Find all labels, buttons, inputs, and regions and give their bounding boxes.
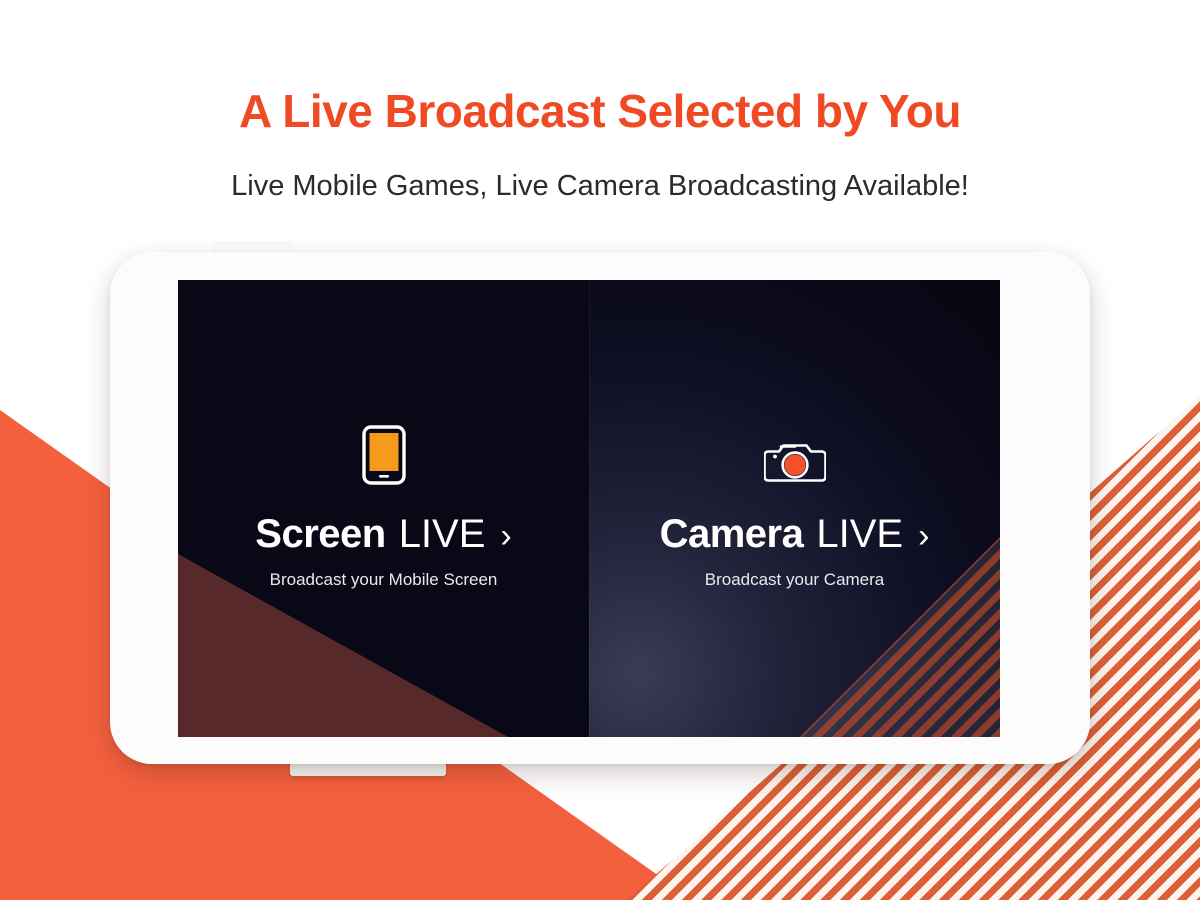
device-screen: Screen LIVE › Broadcast your Mobile Scre… <box>178 280 1000 737</box>
panel-title-strong: Screen <box>255 512 385 557</box>
panel-screen-live-subtitle: Broadcast your Mobile Screen <box>270 570 498 590</box>
panel-divider <box>589 280 590 737</box>
mobile-phone-icon <box>362 425 406 490</box>
panel-camera-live-subtitle: Broadcast your Camera <box>705 570 885 590</box>
page-subtitle: Live Mobile Games, Live Camera Broadcast… <box>0 170 1200 203</box>
panel-screen-live-title: Screen LIVE › <box>255 512 511 557</box>
tablet-device-mockup: Screen LIVE › Broadcast your Mobile Scre… <box>110 252 1090 764</box>
panel-screen-live[interactable]: Screen LIVE › Broadcast your Mobile Scre… <box>178 280 589 737</box>
panel-camera-live[interactable]: Camera LIVE › Broadcast your Camera <box>589 280 1000 737</box>
panel-title-strong: Camera <box>660 512 804 557</box>
mobile-phone-icon-slot <box>362 428 406 490</box>
promo-screenshot: A Live Broadcast Selected by You Live Mo… <box>0 0 1200 900</box>
chevron-right-icon[interactable]: › <box>918 517 929 556</box>
chevron-right-icon[interactable]: › <box>500 517 511 556</box>
panel-title-light: LIVE <box>399 512 486 557</box>
panel-camera-live-title: Camera LIVE › <box>660 512 930 557</box>
page-title: A Live Broadcast Selected by You <box>0 84 1200 138</box>
camera-icon <box>764 437 826 490</box>
camera-icon-slot <box>764 428 826 490</box>
panel-title-light: LIVE <box>816 512 903 557</box>
